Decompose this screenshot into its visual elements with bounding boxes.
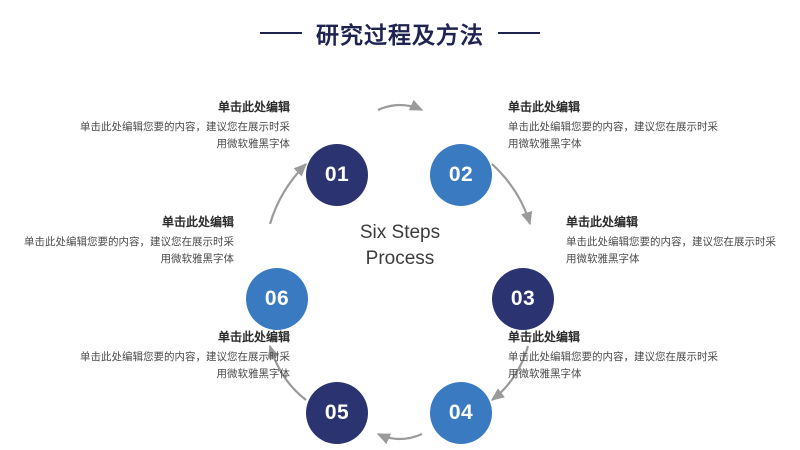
diagram-center-label: Six Steps Process	[320, 220, 480, 271]
step-node-03[interactable]: 03	[492, 268, 554, 330]
arrow-06-to-01	[270, 164, 306, 224]
step-text-05[interactable]: 单击此处编辑 单击此处编辑您要的内容，建议您在展示时采用微软雅黑字体	[78, 330, 290, 382]
center-label-line-2: Process	[320, 246, 480, 272]
arrow-04-to-05	[378, 434, 422, 439]
step-heading-01: 单击此处编辑	[78, 100, 290, 114]
step-text-04[interactable]: 单击此处编辑 单击此处编辑您要的内容，建议您在展示时采用微软雅黑字体	[508, 330, 720, 382]
step-node-05[interactable]: 05	[306, 382, 368, 444]
step-node-02[interactable]: 02	[430, 144, 492, 206]
step-text-01[interactable]: 单击此处编辑 单击此处编辑您要的内容，建议您在展示时采用微软雅黑字体	[78, 100, 290, 152]
step-body-01: 单击此处编辑您要的内容，建议您在展示时采用微软雅黑字体	[78, 119, 290, 152]
step-heading-06: 单击此处编辑	[22, 215, 234, 229]
six-steps-cycle-diagram: 01 02 03 04 05 06 Six Steps Process 单击此处…	[0, 60, 800, 450]
slide-title-bar: 研究过程及方法	[0, 16, 800, 50]
step-node-06[interactable]: 06	[246, 268, 308, 330]
step-body-04: 单击此处编辑您要的内容，建议您在展示时采用微软雅黑字体	[508, 349, 720, 382]
step-text-03[interactable]: 单击此处编辑 单击此处编辑您要的内容，建议您在展示时采用微软雅黑字体	[566, 215, 778, 267]
arrow-01-to-02	[378, 105, 422, 110]
step-node-01[interactable]: 01	[306, 144, 368, 206]
step-text-06[interactable]: 单击此处编辑 单击此处编辑您要的内容，建议您在展示时采用微软雅黑字体	[22, 215, 234, 267]
step-body-05: 单击此处编辑您要的内容，建议您在展示时采用微软雅黑字体	[78, 349, 290, 382]
step-heading-04: 单击此处编辑	[508, 330, 720, 344]
title-rule-left	[260, 32, 302, 34]
step-body-06: 单击此处编辑您要的内容，建议您在展示时采用微软雅黑字体	[22, 234, 234, 267]
step-heading-02: 单击此处编辑	[508, 100, 720, 114]
step-heading-05: 单击此处编辑	[78, 330, 290, 344]
page-title: 研究过程及方法	[316, 16, 484, 50]
step-body-02: 单击此处编辑您要的内容，建议您在展示时采用微软雅黑字体	[508, 119, 720, 152]
step-heading-03: 单击此处编辑	[566, 215, 778, 229]
step-body-03: 单击此处编辑您要的内容，建议您在展示时采用微软雅黑字体	[566, 234, 778, 267]
arrow-02-to-03	[492, 164, 530, 224]
title-rule-right	[498, 32, 540, 34]
step-node-04[interactable]: 04	[430, 382, 492, 444]
step-text-02[interactable]: 单击此处编辑 单击此处编辑您要的内容，建议您在展示时采用微软雅黑字体	[508, 100, 720, 152]
center-label-line-1: Six Steps	[320, 220, 480, 246]
